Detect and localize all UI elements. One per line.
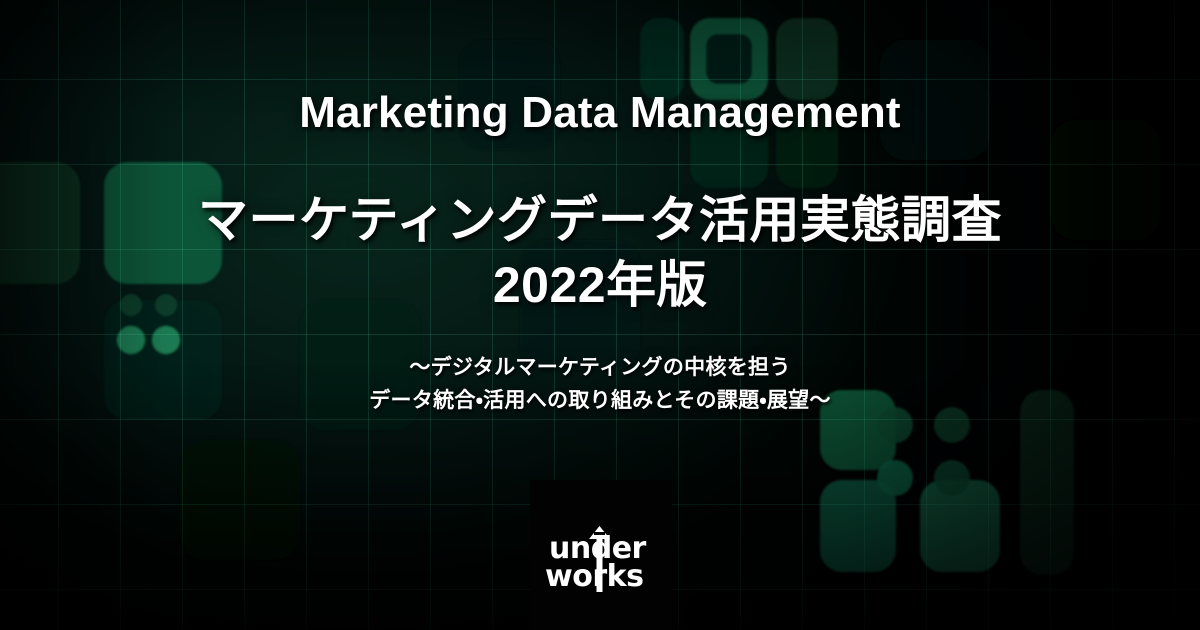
page-title: マーケティングデータ活用実態調査 2022年版 [0, 188, 1200, 318]
slide-content: Marketing Data Management マーケティングデータ活用実態… [0, 0, 1200, 630]
page-subtitle: 〜デジタルマーケティングの中核を担う データ統合・活用への取り組みとその課題・展… [0, 352, 1200, 417]
brand-logo[interactable]: under works [530, 480, 672, 630]
page-subtitle-line-1: 〜デジタルマーケティングの中核を担う [409, 356, 790, 379]
slide-canvas: Marketing Data Management マーケティングデータ活用実態… [0, 0, 1200, 630]
logo-text-line-2: works [545, 559, 643, 594]
logo-mark: under works [545, 526, 657, 594]
page-title-line-1: マーケティングデータ活用実態調査 [198, 192, 1002, 248]
eyebrow-title: Marketing Data Management [0, 88, 1200, 137]
page-title-line-2: 2022年版 [0, 253, 1200, 318]
page-subtitle-line-2: データ統合・活用への取り組みとその課題・展望〜 [0, 385, 1200, 418]
arrow-shaft-joint [597, 559, 603, 566]
